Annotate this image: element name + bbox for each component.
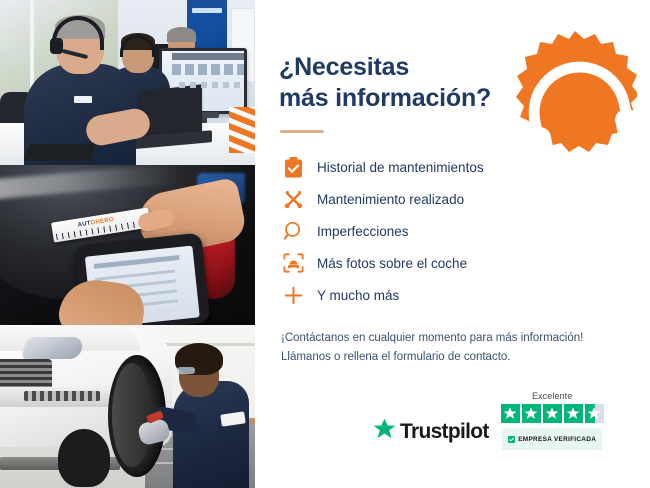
photo-column: AUTOHERO	[0, 0, 255, 488]
car-inspection-ruler-photo: AUTOHERO	[0, 165, 255, 325]
agent-one-earcup	[50, 38, 63, 54]
star-rating	[501, 404, 604, 423]
star-filled	[543, 404, 562, 423]
trustpilot-rating[interactable]: Trustpilot Excelente	[373, 391, 604, 450]
agent-three-hair	[167, 27, 196, 42]
agent-one-name-badge	[74, 96, 92, 103]
content-panel: ¿Necesitas más información? Est	[255, 0, 650, 488]
headline-line-2: más información?	[279, 83, 509, 114]
feature-label: Imperfecciones	[317, 224, 409, 239]
rating-label: Excelente	[532, 391, 572, 401]
feature-label: Más fotos sobre el coche	[317, 256, 467, 271]
title-divider	[280, 130, 324, 133]
magnifier-icon	[281, 219, 305, 243]
contact-info-poster: AUTOHERO	[0, 0, 650, 488]
orange-stand	[229, 107, 255, 153]
car-frame-icon	[281, 251, 305, 275]
feature-label: Mantenimiento realizado	[317, 192, 464, 207]
monitor-screen-row	[172, 64, 244, 75]
headset-icon	[506, 39, 650, 186]
feature-label: Historial de mantenimientos	[317, 160, 484, 175]
verified-check-icon	[508, 430, 515, 448]
trustpilot-wordmark: Trustpilot	[400, 420, 489, 444]
feature-label: Y mucho más	[317, 288, 399, 303]
mechanic-wheel-photo	[0, 325, 255, 488]
wheel-face	[112, 363, 152, 467]
bumper-vent	[24, 391, 100, 401]
contact-copy: ¡Contáctanos en cualquier momento para m…	[281, 329, 650, 366]
feature-item-more-photos: Más fotos sobre el coche	[281, 247, 650, 279]
safety-glasses	[177, 367, 195, 374]
feature-item-much-more: Y mucho más	[281, 279, 650, 311]
verified-label: EMPRESA VERIFICADA	[518, 436, 596, 443]
call-center-agents-photo	[0, 0, 255, 165]
star-partial	[585, 404, 604, 423]
rear-wheel	[58, 429, 110, 487]
plus-icon	[281, 283, 305, 307]
star-filled	[501, 404, 520, 423]
star-filled	[522, 404, 541, 423]
contact-line-2: Llámanos o rellena el formulario de cont…	[281, 348, 650, 367]
trustpilot-score-block: Excelente	[501, 391, 604, 450]
headline-line-1: ¿Necesitas	[279, 53, 409, 81]
trustpilot-logo[interactable]: Trustpilot	[373, 418, 489, 450]
star-filled	[564, 404, 583, 423]
page-title: ¿Necesitas más información?	[279, 52, 509, 114]
monitor-screen-row	[179, 82, 241, 88]
badge-content: Estamos encantados de darte más informac…	[501, 17, 648, 164]
monitor-screen-header	[172, 53, 244, 60]
tools-cross-icon	[281, 187, 305, 211]
mechanic-body	[173, 381, 249, 488]
car-headlight	[22, 337, 85, 359]
promo-badge: Estamos encantados de darte más informac…	[513, 29, 637, 153]
desk-tablet	[23, 144, 97, 161]
contact-line-1: ¡Contáctanos en cualquier momento para m…	[281, 329, 650, 348]
verified-company-badge: EMPRESA VERIFICADA	[502, 428, 602, 450]
trustpilot-star-icon	[373, 418, 396, 445]
clipboard-check-icon	[281, 155, 305, 179]
